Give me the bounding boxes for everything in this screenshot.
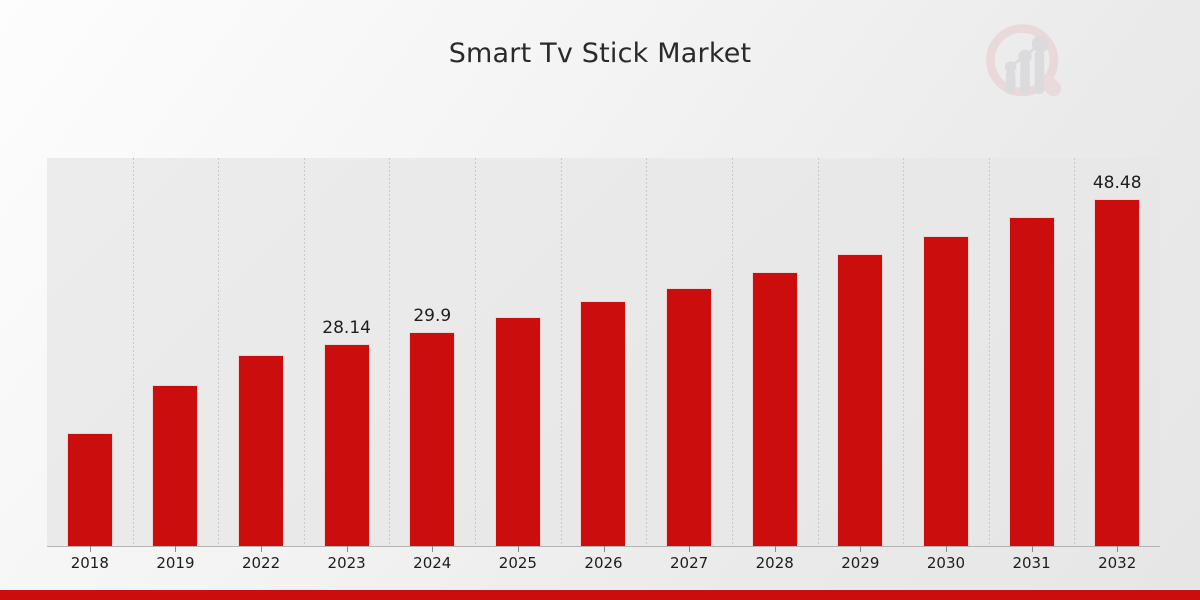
bar-slot [47, 158, 133, 546]
bar-slot [561, 158, 647, 546]
x-tick-mark [1032, 546, 1033, 552]
bar-2019[interactable] [152, 385, 198, 546]
bar-slot [818, 158, 904, 546]
x-tick-mark [347, 546, 348, 552]
x-tick-mark [261, 546, 262, 552]
x-tick-mark [604, 546, 605, 552]
x-tick-label-2019: 2019 [156, 554, 194, 572]
bar-slot [475, 158, 561, 546]
bar-slot [903, 158, 989, 546]
footer-accent-bar [0, 590, 1200, 600]
bar-slot: 48.48 [1074, 158, 1160, 546]
bar-2018[interactable] [67, 433, 113, 546]
x-tick-mark [775, 546, 776, 552]
x-tick-label-2023: 2023 [328, 554, 366, 572]
x-tick-mark [432, 546, 433, 552]
bar-slot [732, 158, 818, 546]
x-tick-label-2026: 2026 [584, 554, 622, 572]
x-tick-label-2028: 2028 [756, 554, 794, 572]
page-title: Smart Tv Stick Market [0, 38, 1200, 69]
bar-2030[interactable] [923, 236, 969, 546]
bar-2027[interactable] [666, 288, 712, 546]
bar-slot: 29.9 [389, 158, 475, 546]
bar-2031[interactable] [1009, 217, 1055, 546]
bar-2032[interactable] [1094, 199, 1140, 546]
x-tick-label-2022: 2022 [242, 554, 280, 572]
x-tick-mark [689, 546, 690, 552]
x-tick-mark [518, 546, 519, 552]
bar-slot: 28.14 [304, 158, 390, 546]
bar-2024[interactable] [409, 332, 455, 546]
bar-value-label-2032: 48.48 [1093, 173, 1142, 193]
x-tick-mark [1117, 546, 1118, 552]
bar-2022[interactable] [238, 355, 284, 546]
bar-2026[interactable] [580, 301, 626, 546]
x-tick-label-2025: 2025 [499, 554, 537, 572]
x-axis-tick-labels: 2018201920222023202420252026202720282029… [47, 554, 1160, 578]
bar-slot [646, 158, 732, 546]
bar-2028[interactable] [752, 272, 798, 546]
x-tick-label-2030: 2030 [927, 554, 965, 572]
bar-series: 28.1429.948.48 [47, 158, 1160, 546]
bar-value-label-2024: 29.9 [413, 306, 451, 326]
chart-plot-area: 28.1429.948.48 [47, 158, 1160, 546]
x-tick-label-2024: 2024 [413, 554, 451, 572]
x-tick-mark [175, 546, 176, 552]
bar-2023[interactable] [324, 344, 370, 546]
bar-slot [218, 158, 304, 546]
x-tick-mark [860, 546, 861, 552]
bar-2029[interactable] [837, 254, 883, 546]
bar-slot [989, 158, 1075, 546]
x-tick-label-2032: 2032 [1098, 554, 1136, 572]
x-tick-label-2027: 2027 [670, 554, 708, 572]
x-tick-label-2031: 2031 [1012, 554, 1050, 572]
x-tick-label-2018: 2018 [71, 554, 109, 572]
bar-2025[interactable] [495, 317, 541, 546]
x-tick-mark [946, 546, 947, 552]
x-tick-mark [90, 546, 91, 552]
x-tick-label-2029: 2029 [841, 554, 879, 572]
bar-slot [133, 158, 219, 546]
bar-value-label-2023: 28.14 [322, 318, 371, 338]
